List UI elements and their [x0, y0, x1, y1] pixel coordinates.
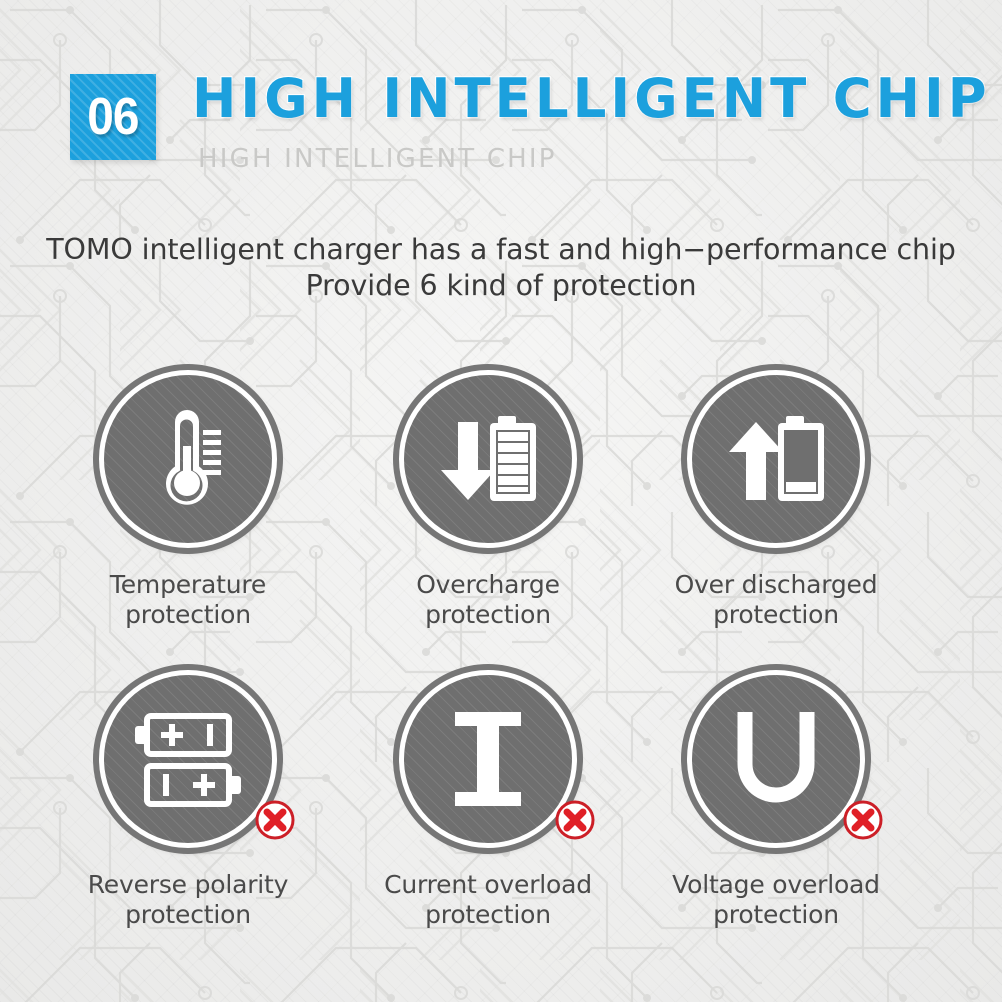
feature-label: Temperature protection — [38, 570, 338, 630]
intro-line-1: TOMO intelligent charger has a fast and … — [0, 232, 1002, 268]
feature-disc — [687, 670, 865, 848]
feature-row-bottom: Reverse polarity protection — [0, 670, 1002, 970]
feature-item-over-discharged[interactable]: Over discharged protection — [626, 370, 926, 630]
current-letter-i-icon — [399, 670, 577, 848]
section-number-badge: 06 — [70, 74, 156, 160]
feature-label-line-1: Overcharge — [338, 570, 638, 600]
page-title: HIGH INTELLIGENT CHIP — [192, 72, 991, 126]
down-arrow-full-battery-icon — [399, 370, 577, 548]
feature-disc — [99, 670, 277, 848]
feature-label-line-2: protection — [338, 600, 638, 630]
feature-label-line-1: Temperature — [38, 570, 338, 600]
thermometer-icon — [99, 370, 277, 548]
voltage-letter-u-icon — [687, 670, 865, 848]
feature-label-line-2: protection — [626, 600, 926, 630]
section-header: 06 HIGH INTELLIGENT CHIP HIGH INTELLIGEN… — [70, 72, 960, 182]
feature-label: Voltage overload protection — [626, 870, 926, 930]
reversed-batteries-icon — [99, 670, 277, 848]
feature-item-voltage-overload[interactable]: Voltage overload protection — [626, 670, 926, 930]
feature-item-reverse-polarity[interactable]: Reverse polarity protection — [38, 670, 338, 930]
up-arrow-empty-battery-icon — [687, 370, 865, 548]
feature-label: Current overload protection — [338, 870, 638, 930]
feature-label-line-1: Voltage overload — [626, 870, 926, 900]
feature-disc — [687, 370, 865, 548]
feature-row-top: Temperature protection — [0, 370, 1002, 670]
feature-label-line-2: protection — [38, 600, 338, 630]
intro-line-2: Provide 6 kind of protection — [0, 268, 1002, 304]
feature-label-line-1: Current overload — [338, 870, 638, 900]
feature-label-line-2: protection — [626, 900, 926, 930]
feature-disc — [399, 370, 577, 548]
feature-label: Overcharge protection — [338, 570, 638, 630]
protection-feature-grid: Temperature protection — [0, 370, 1002, 970]
prohibited-x-icon — [555, 800, 595, 840]
feature-item-temperature[interactable]: Temperature protection — [38, 370, 338, 630]
feature-item-overcharge[interactable]: Overcharge protection — [338, 370, 638, 630]
down-arrow-shape — [441, 422, 495, 500]
section-number-text: 06 — [87, 91, 138, 143]
page-subtitle: HIGH INTELLIGENT CHIP — [198, 146, 557, 172]
feature-label-line-2: protection — [38, 900, 338, 930]
feature-label-line-1: Reverse polarity — [38, 870, 338, 900]
feature-label: Reverse polarity protection — [38, 870, 338, 930]
feature-disc — [399, 670, 577, 848]
feature-label: Over discharged protection — [626, 570, 926, 630]
feature-label-line-1: Over discharged — [626, 570, 926, 600]
feature-item-current-overload[interactable]: Current overload protection — [338, 670, 638, 930]
prohibited-x-icon — [255, 800, 295, 840]
intro-paragraph: TOMO intelligent charger has a fast and … — [0, 232, 1002, 304]
prohibited-x-icon — [843, 800, 883, 840]
feature-disc — [99, 370, 277, 548]
feature-label-line-2: protection — [338, 900, 638, 930]
up-arrow-shape — [729, 422, 783, 500]
promo-page: 06 HIGH INTELLIGENT CHIP HIGH INTELLIGEN… — [0, 0, 1002, 1002]
